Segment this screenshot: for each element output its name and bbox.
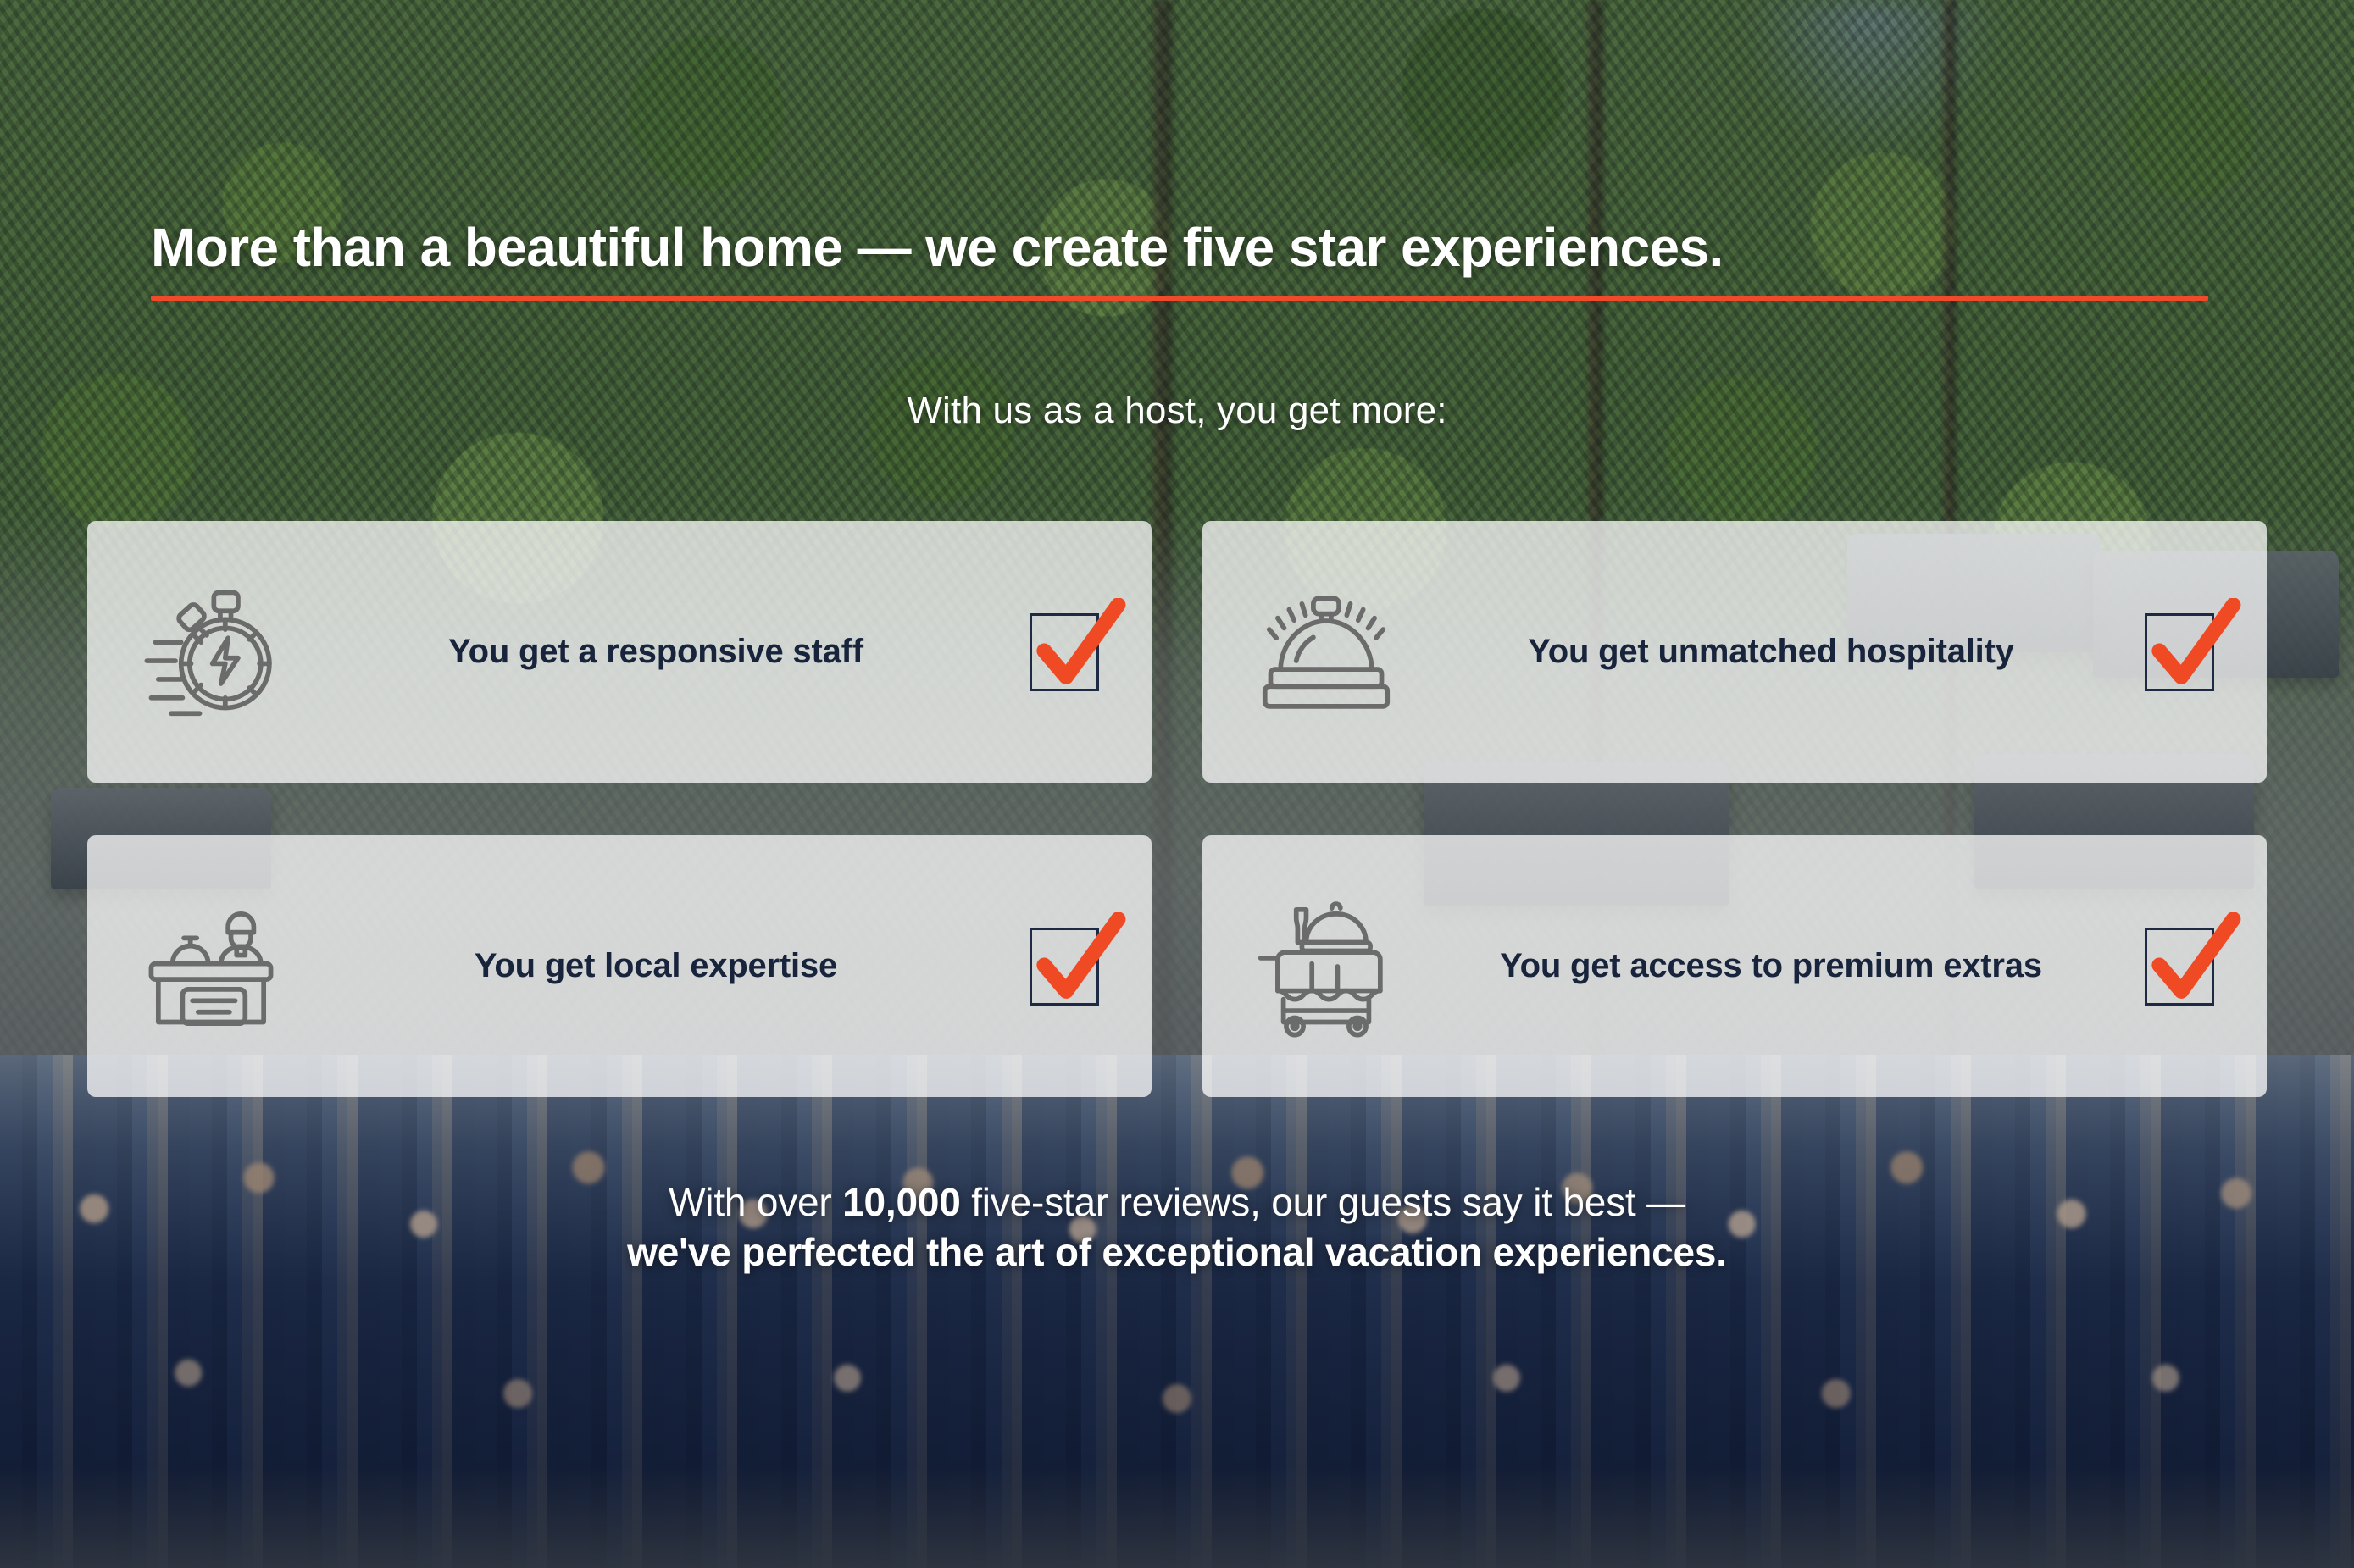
hero-content: More than a beautiful home — we create f…: [0, 0, 2354, 1568]
benefit-card-hospitality[interactable]: You get unmatched hospitality: [1202, 521, 2267, 783]
footer-statement: With over 10,000 five-star reviews, our …: [0, 1177, 2354, 1277]
benefit-card-responsive-staff[interactable]: You get a responsive staff: [87, 521, 1152, 783]
benefit-card-local-expertise[interactable]: You get local expertise: [87, 835, 1152, 1097]
benefit-card-label: You get unmatched hospitality: [1397, 633, 2145, 671]
footer-line-1-prefix: With over: [669, 1180, 842, 1224]
hero-section: More than a beautiful home — we create f…: [0, 0, 2354, 1568]
footer-review-count: 10,000: [842, 1180, 961, 1224]
checkbox-checked[interactable]: [1030, 928, 1108, 1006]
service-bell-icon: [1255, 581, 1397, 723]
check-icon: [1026, 912, 1126, 1014]
check-icon: [1026, 598, 1126, 700]
room-service-cart-icon: [1255, 895, 1397, 1038]
benefit-card-premium-extras[interactable]: You get access to premium extras: [1202, 835, 2267, 1097]
checkbox-checked[interactable]: [2145, 928, 2223, 1006]
footer-line-1-suffix: five-star reviews, our guests say it bes…: [961, 1180, 1685, 1224]
checkbox-checked[interactable]: [1030, 613, 1108, 691]
page-title: More than a beautiful home — we create f…: [151, 219, 2208, 277]
benefit-card-label: You get access to premium extras: [1397, 947, 2145, 985]
check-icon: [2141, 912, 2241, 1014]
checkbox-checked[interactable]: [2145, 613, 2223, 691]
subheading: With us as a host, you get more:: [0, 390, 2354, 432]
stopwatch-lightning-icon: [140, 581, 282, 723]
headline-underline-rule: [151, 296, 2208, 301]
concierge-desk-icon: [140, 895, 282, 1038]
benefit-card-label: You get a responsive staff: [282, 633, 1030, 671]
check-icon: [2141, 598, 2241, 700]
headline-block: More than a beautiful home — we create f…: [151, 219, 2208, 301]
footer-line-1: With over 10,000 five-star reviews, our …: [0, 1177, 2354, 1227]
footer-line-2: we've perfected the art of exceptional v…: [0, 1227, 2354, 1277]
benefit-card-label: You get local expertise: [282, 947, 1030, 985]
benefit-card-grid: You get a responsive staff: [87, 521, 2267, 1097]
